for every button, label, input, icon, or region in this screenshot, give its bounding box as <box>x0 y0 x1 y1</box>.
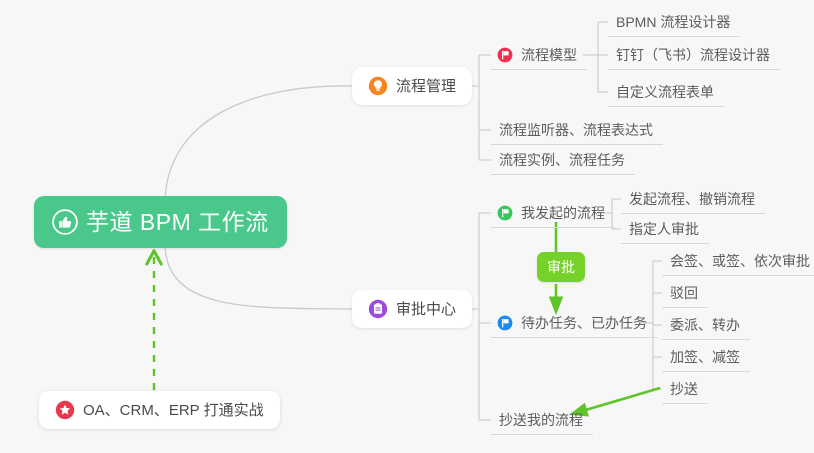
node-label: BPMN 流程设计器 <box>616 15 730 29</box>
node-process-listener-expression[interactable]: 流程监听器、流程表达式 <box>491 115 663 145</box>
clipboard-icon <box>368 299 388 319</box>
node-bpmn-designer[interactable]: BPMN 流程设计器 <box>608 7 740 37</box>
node-label: 指定人审批 <box>629 222 699 236</box>
lightbulb-icon <box>368 76 388 96</box>
branch-process-management[interactable]: 流程管理 <box>352 67 472 105</box>
node-designated-approver[interactable]: 指定人审批 <box>621 214 709 244</box>
node-cc-to-me-process[interactable]: 抄送我的流程 <box>491 405 593 435</box>
node-countersign-or-sequential[interactable]: 会签、或签、依次审批 <box>662 246 814 276</box>
flag-icon <box>497 205 513 221</box>
mindmap-canvas: 芋道 BPM 工作流 流程管理 流程模型 BPMN 流程设计器 钉钉（飞书）流程… <box>0 0 814 453</box>
root-node[interactable]: 芋道 BPM 工作流 <box>34 196 287 248</box>
root-label: 芋道 BPM 工作流 <box>86 211 269 234</box>
thumbs-up-icon <box>52 209 78 235</box>
node-process-model[interactable]: 流程模型 <box>491 40 587 70</box>
node-label: 发起流程、撤销流程 <box>629 192 755 206</box>
node-my-initiated-process[interactable]: 我发起的流程 <box>491 198 615 228</box>
approval-badge[interactable]: 审批 <box>537 252 585 282</box>
node-cc[interactable]: 抄送 <box>662 374 708 404</box>
node-label: 驳回 <box>670 286 698 300</box>
node-process-instance-task[interactable]: 流程实例、流程任务 <box>491 145 635 175</box>
node-label: 流程模型 <box>521 48 577 62</box>
node-label: 流程实例、流程任务 <box>499 153 625 167</box>
star-icon <box>55 400 75 420</box>
branch-approval-center[interactable]: 审批中心 <box>352 290 472 328</box>
node-label: 流程监听器、流程表达式 <box>499 123 653 137</box>
branch-label: 审批中心 <box>396 302 456 317</box>
node-dingtalk-feishu-designer[interactable]: 钉钉（飞书）流程设计器 <box>608 40 780 70</box>
node-add-remove-signer[interactable]: 加签、减签 <box>662 342 750 372</box>
node-label: 自定义流程表单 <box>616 85 714 99</box>
node-delegate-transfer[interactable]: 委派、转办 <box>662 310 750 340</box>
card-oa-crm-erp[interactable]: OA、CRM、ERP 打通实战 <box>39 391 280 429</box>
card-label: OA、CRM、ERP 打通实战 <box>83 403 264 418</box>
node-reject[interactable]: 驳回 <box>662 278 708 308</box>
badge-label: 审批 <box>547 260 575 274</box>
node-todo-done-tasks[interactable]: 待办任务、已办任务 <box>491 308 657 338</box>
flag-icon <box>497 315 513 331</box>
node-label: 委派、转办 <box>670 318 740 332</box>
node-start-cancel-process[interactable]: 发起流程、撤销流程 <box>621 184 765 214</box>
node-label: 我发起的流程 <box>521 206 605 220</box>
node-label: 会签、或签、依次审批 <box>670 254 810 268</box>
node-label: 待办任务、已办任务 <box>521 316 647 330</box>
node-label: 钉钉（飞书）流程设计器 <box>616 48 770 62</box>
node-label: 加签、减签 <box>670 350 740 364</box>
node-label: 抄送 <box>670 382 698 396</box>
node-custom-process-form[interactable]: 自定义流程表单 <box>608 77 724 107</box>
node-label: 抄送我的流程 <box>499 413 583 427</box>
flag-icon <box>497 47 513 63</box>
edge-root-to-process-management <box>165 86 352 200</box>
edge-root-to-approval-center <box>165 246 352 309</box>
branch-label: 流程管理 <box>396 79 456 94</box>
